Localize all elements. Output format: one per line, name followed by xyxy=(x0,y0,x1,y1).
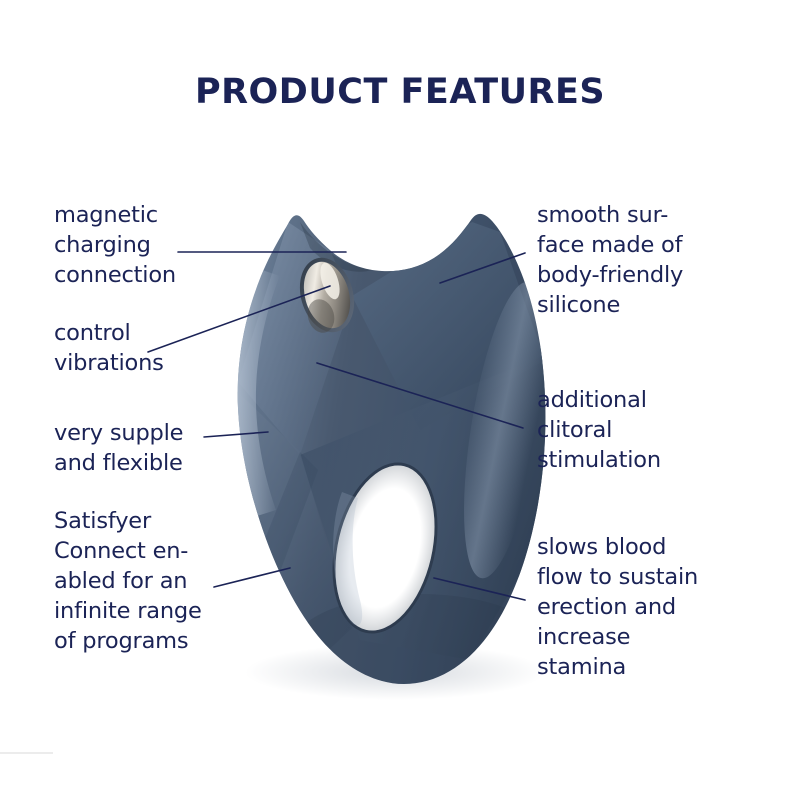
callout-line: stamina xyxy=(537,652,698,682)
callout-line: infinite range xyxy=(54,596,202,626)
callout-control-vibrations: control vibrations xyxy=(54,318,164,378)
callout-line: magnetic xyxy=(54,200,176,230)
callout-smooth-surface-silicone: smooth sur- face made of body-friendly s… xyxy=(537,200,683,320)
callout-line: abled for an xyxy=(54,566,202,596)
callout-line: erection and xyxy=(537,592,698,622)
callout-line: of programs xyxy=(54,626,202,656)
callout-line: charging xyxy=(54,230,176,260)
callout-very-supple-and-flexible: very supple and flexible xyxy=(54,418,183,478)
callout-line: vibrations xyxy=(54,348,164,378)
callout-line: silicone xyxy=(537,290,683,320)
callout-slows-blood-flow-stamina: slows blood flow to sustain erection and… xyxy=(537,532,698,682)
footer-divider xyxy=(0,752,53,754)
callout-line: additional xyxy=(537,385,661,415)
callout-line: increase xyxy=(537,622,698,652)
callout-line: slows blood xyxy=(537,532,698,562)
callout-line: Satisfyer xyxy=(54,506,202,536)
callout-magnetic-charging-connection: magnetic charging connection xyxy=(54,200,176,290)
callout-line: face made of xyxy=(537,230,683,260)
callout-line: control xyxy=(54,318,164,348)
callout-line: connection xyxy=(54,260,176,290)
callout-line: clitoral xyxy=(537,415,661,445)
callout-line: body-friendly xyxy=(537,260,683,290)
product-features-infographic: PRODUCT FEATURES xyxy=(0,0,800,800)
callout-line: and flexible xyxy=(54,448,183,478)
callout-line: very supple xyxy=(54,418,183,448)
callout-satisfyer-connect-enabled: Satisfyer Connect en- abled for an infin… xyxy=(54,506,202,656)
callout-line: stimulation xyxy=(537,445,661,475)
callout-line: flow to sustain xyxy=(537,562,698,592)
callout-line: smooth sur- xyxy=(537,200,683,230)
callout-line: Connect en- xyxy=(54,536,202,566)
callout-additional-clitoral-stimulation: additional clitoral stimulation xyxy=(537,385,661,475)
